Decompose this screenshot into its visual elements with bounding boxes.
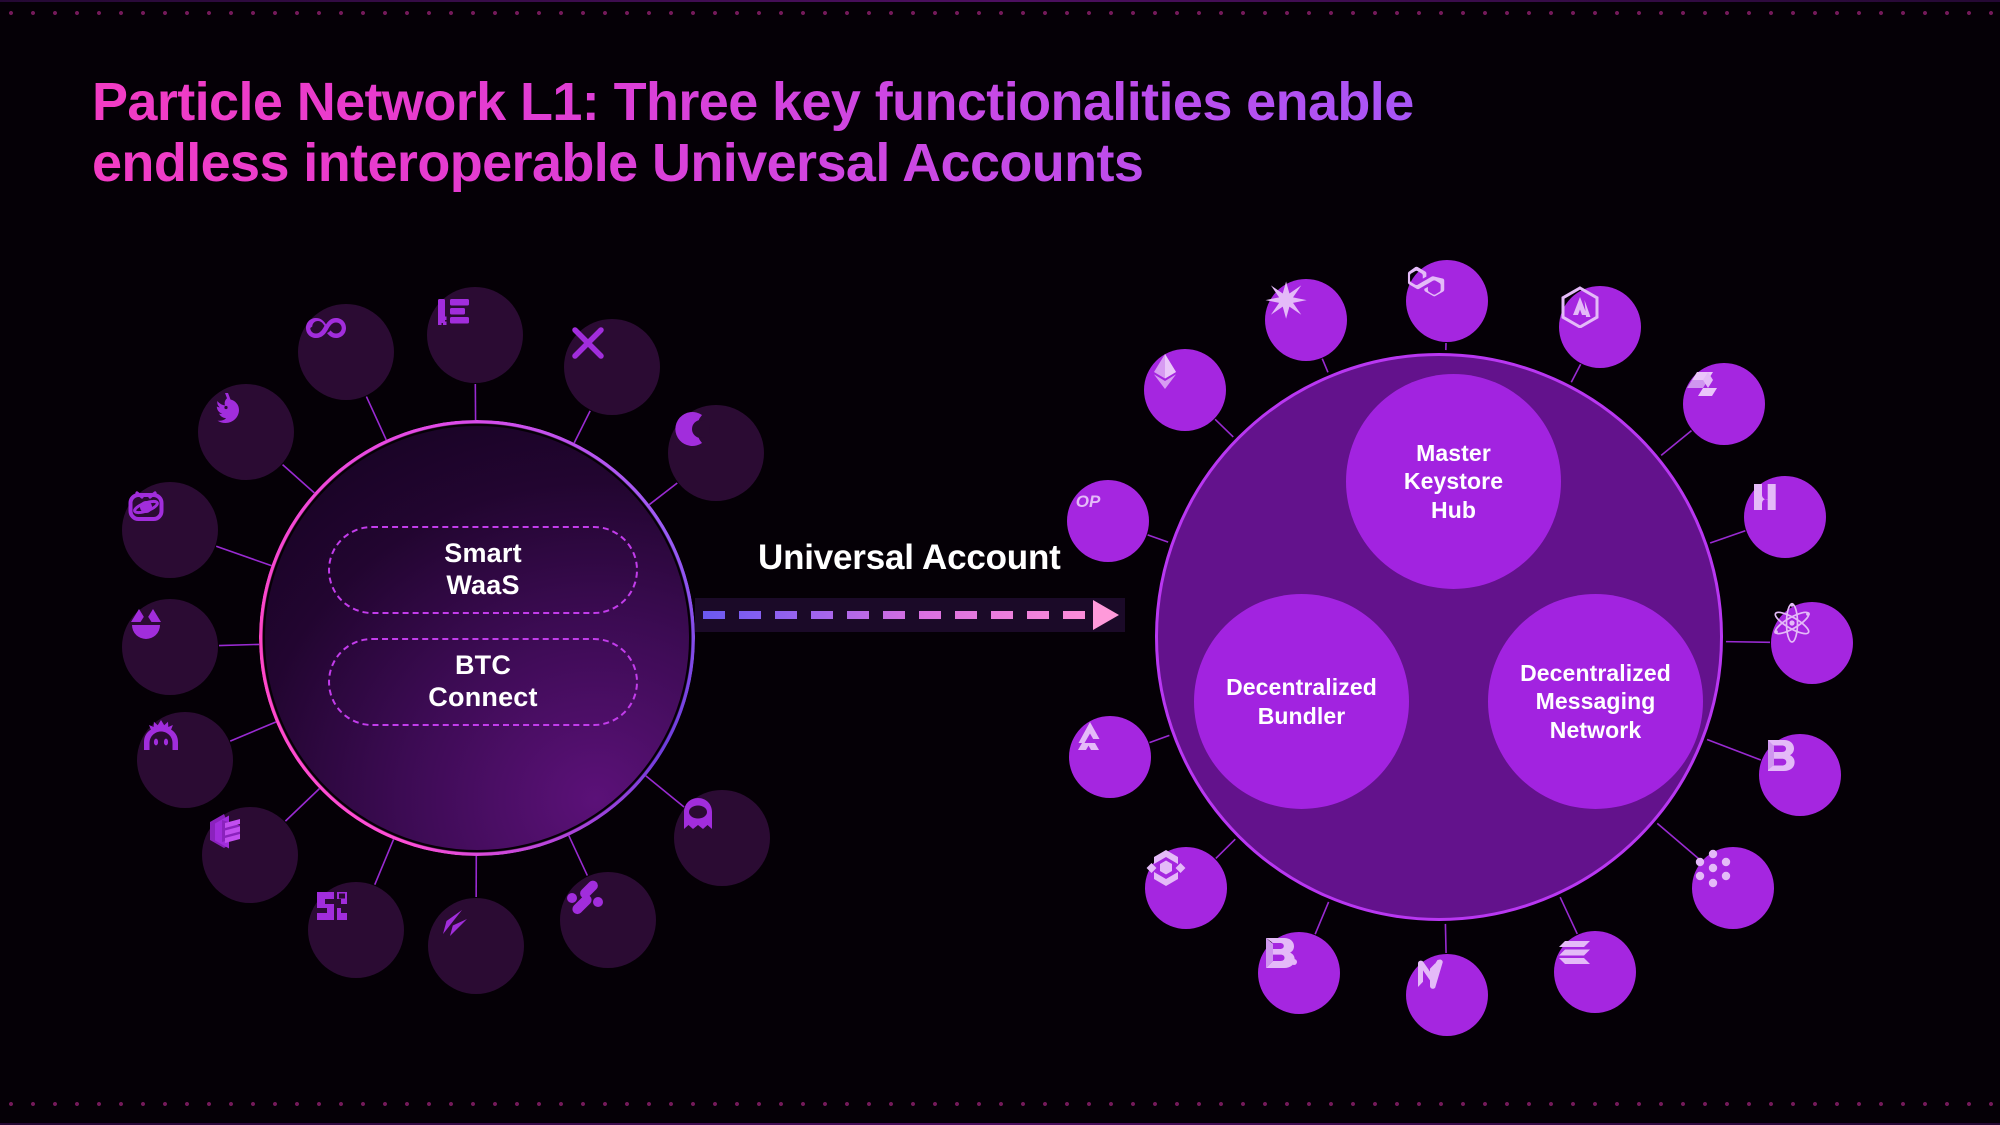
pill-smart-waas[interactable]: Smart WaaS xyxy=(328,526,638,614)
node-moon-crescent-icon[interactable] xyxy=(668,405,764,501)
node-zkbridge-icon[interactable] xyxy=(1744,476,1826,558)
x-cross-icon xyxy=(564,319,612,367)
node-bitcoin-b-icon[interactable] xyxy=(1258,932,1340,1014)
node-unicorn-icon[interactable] xyxy=(198,384,294,480)
scroll-icon xyxy=(1683,363,1725,405)
connector-line xyxy=(230,722,276,741)
cosmos-icon xyxy=(1771,602,1813,644)
unicorn-icon xyxy=(198,384,246,432)
node-optimism-icon[interactable] xyxy=(1067,480,1149,562)
moon-crescent-icon xyxy=(668,405,716,453)
node-polygon-icon[interactable] xyxy=(1406,260,1488,342)
node-near-icon[interactable] xyxy=(1406,954,1488,1036)
node-bnb-icon[interactable] xyxy=(1145,847,1227,929)
connector-line xyxy=(1322,359,1328,373)
connector-line xyxy=(375,839,394,884)
node-cosmos-icon[interactable] xyxy=(1771,602,1853,684)
connector-line xyxy=(1560,897,1577,934)
droplet-icon xyxy=(122,599,170,647)
connector-line xyxy=(1149,735,1169,742)
connector-line xyxy=(285,789,319,822)
planet-tv-icon xyxy=(122,482,170,530)
node-bars-diagonal-icon[interactable] xyxy=(560,872,656,968)
connector-line xyxy=(1148,535,1169,542)
node-avalanche-icon[interactable] xyxy=(1069,716,1151,798)
node-x-cross-icon[interactable] xyxy=(564,319,660,415)
node-elementor-icon[interactable] xyxy=(427,287,523,383)
node-cube-layers-icon[interactable] xyxy=(202,807,298,903)
connector-line xyxy=(1315,902,1328,934)
node-scroll-icon[interactable] xyxy=(1683,363,1765,445)
bars-diagonal-icon xyxy=(560,872,608,920)
connector-line xyxy=(366,397,386,440)
node-s-block-icon[interactable] xyxy=(308,882,404,978)
avalanche-icon xyxy=(1069,716,1111,758)
connector-line xyxy=(1571,364,1580,382)
sub-circle-decentralized-messaging-network[interactable]: Decentralized Messaging Network xyxy=(1488,594,1703,809)
connector-line xyxy=(219,644,259,645)
connector-line xyxy=(1215,419,1233,437)
slash-streak-icon xyxy=(428,898,476,946)
connector-line xyxy=(569,836,588,876)
node-piggy-icon[interactable] xyxy=(137,712,233,808)
node-infinity-icon[interactable] xyxy=(298,304,394,400)
near-icon xyxy=(1406,954,1448,996)
node-solana-icon[interactable] xyxy=(1554,931,1636,1013)
elementor-icon xyxy=(427,287,475,335)
universal-account-arrow: Universal Account xyxy=(695,580,1165,640)
connector-line xyxy=(1707,739,1761,760)
zkbridge-icon xyxy=(1744,476,1786,518)
connector-line xyxy=(1661,431,1691,456)
ghost-icon xyxy=(674,790,722,838)
node-starknet-icon[interactable] xyxy=(1265,279,1347,361)
piggy-icon xyxy=(137,712,185,760)
bnb-icon xyxy=(1145,847,1187,889)
solana-icon xyxy=(1554,931,1596,973)
connector-line xyxy=(1710,531,1745,543)
left-hub-circle: Smart WaaS BTC Connect xyxy=(262,423,692,853)
blast-icon xyxy=(1759,734,1801,776)
cube-layers-icon xyxy=(202,807,250,855)
arrow-dashed-line xyxy=(703,611,1101,619)
starknet-icon xyxy=(1265,279,1307,321)
connector-line xyxy=(1445,924,1446,953)
ethereum-icon xyxy=(1144,349,1186,391)
arrow-label: Universal Account xyxy=(758,538,1061,578)
node-arbitrum-icon[interactable] xyxy=(1559,286,1641,368)
connector-line xyxy=(1726,642,1770,643)
optimism-icon xyxy=(1067,480,1109,522)
node-cluster-icon[interactable] xyxy=(1692,847,1774,929)
node-slash-streak-icon[interactable] xyxy=(428,898,524,994)
connector-line xyxy=(1216,839,1235,858)
s-block-icon xyxy=(308,882,356,930)
connector-line xyxy=(283,465,315,493)
node-ethereum-icon[interactable] xyxy=(1144,349,1226,431)
sub-circle-decentralized-bundler[interactable]: Decentralized Bundler xyxy=(1194,594,1409,809)
cluster-icon xyxy=(1692,847,1734,889)
right-hub-circle: Master Keystore Hub Decentralized Bundle… xyxy=(1155,353,1723,921)
pill-btc-connect[interactable]: BTC Connect xyxy=(328,638,638,726)
arrow-head-icon xyxy=(1093,600,1119,630)
node-blast-icon[interactable] xyxy=(1759,734,1841,816)
connector-line xyxy=(649,483,677,505)
polygon-icon xyxy=(1406,260,1448,302)
node-ghost-icon[interactable] xyxy=(674,790,770,886)
infinity-icon xyxy=(298,304,346,352)
bitcoin-b-icon xyxy=(1258,932,1300,974)
node-droplet-icon[interactable] xyxy=(122,599,218,695)
sub-circle-master-keystore-hub[interactable]: Master Keystore Hub xyxy=(1346,374,1561,589)
arbitrum-icon xyxy=(1559,286,1601,328)
connector-line xyxy=(574,411,590,443)
node-planet-tv-icon[interactable] xyxy=(122,482,218,578)
connector-line xyxy=(216,546,271,565)
